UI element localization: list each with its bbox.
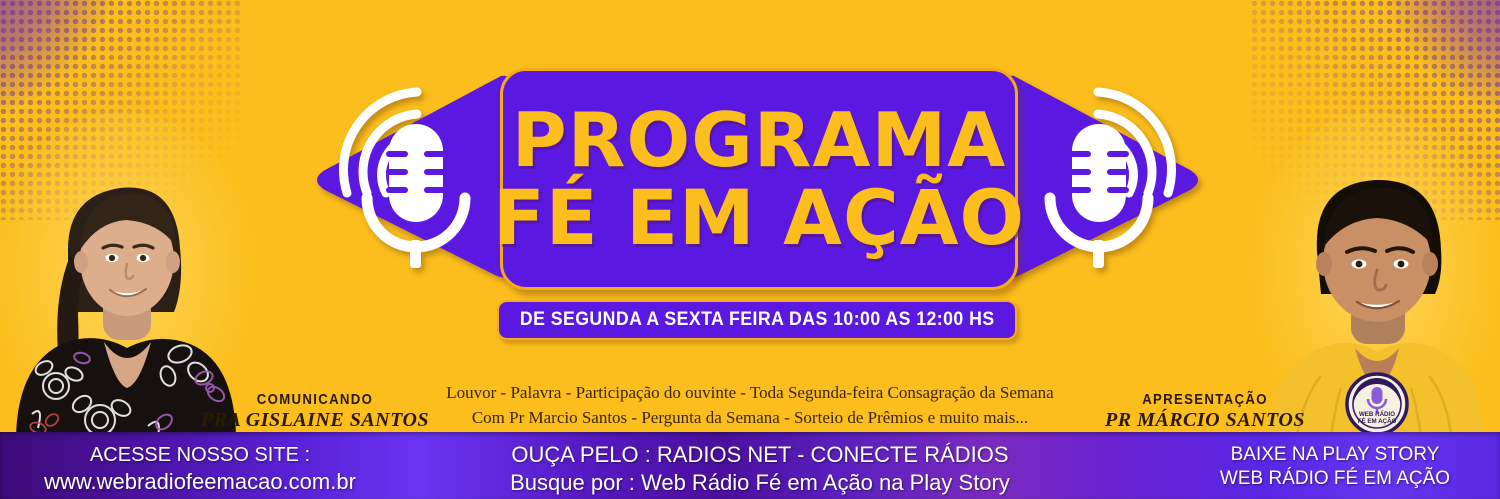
schedule-pill: DE SEGUNDA A SEXTA FEIRA DAS 10:00 AS 12…: [497, 300, 1017, 340]
bottom-right-line2: WEB RÁDIO FÉ EM AÇÃO: [1170, 467, 1500, 491]
corner-glow-left: [0, 0, 110, 110]
credit-left: COMUNICANDO PRA GISLAINE SANTOS: [200, 391, 430, 432]
bottom-right-block: BAIXE NA PLAY STORY WEB RÁDIO FÉ EM AÇÃO: [1170, 443, 1500, 491]
program-title-box: PROGRAMA FÉ EM AÇÃO: [500, 68, 1018, 290]
bottom-center-block: OUÇA PELO : RADIOS NET - CONECTE RÁDIOS …: [470, 441, 1050, 496]
bottom-center-line1: OUÇA PELO : RADIOS NET - CONECTE RÁDIOS: [470, 441, 1050, 469]
bottom-right-line1: BAIXE NA PLAY STORY: [1170, 443, 1500, 467]
credit-left-name: PRA GISLAINE SANTOS: [200, 409, 430, 432]
play-triangle-left-icon: [305, 62, 515, 292]
left-mic-badge: [305, 62, 515, 292]
credit-right: APRESENTAÇÃO PR MÁRCIO SANTOS: [1085, 391, 1325, 432]
bottom-info-bar: ACESSE NOSSO SITE : www.webradiofeemacao…: [0, 432, 1500, 499]
bottom-left-line1: ACESSE NOSSO SITE :: [0, 443, 400, 468]
credit-right-role: APRESENTAÇÃO: [1099, 391, 1310, 408]
play-triangle-right-icon: [1000, 62, 1210, 292]
schedule-text: DE SEGUNDA A SEXTA FEIRA DAS 10:00 AS 12…: [520, 309, 995, 331]
right-mic-badge: [1000, 62, 1210, 292]
website-url[interactable]: www.webradiofeemacao.com.br: [0, 468, 400, 496]
program-title-line2: FÉ EM AÇÃO: [493, 182, 1025, 253]
radio-program-banner: WEB RÁDIO FÉ EM AÇÃO: [0, 0, 1500, 499]
bottom-left-block: ACESSE NOSSO SITE : www.webradiofeemacao…: [0, 443, 400, 496]
program-title-line1: PROGRAMA: [512, 105, 1007, 176]
bottom-center-line2: Busque por : Web Rádio Fé em Ação na Pla…: [470, 469, 1050, 497]
credit-left-role: COMUNICANDO: [214, 391, 416, 408]
corner-glow-right: [1390, 0, 1500, 110]
credit-right-name: PR MÁRCIO SANTOS: [1085, 409, 1325, 432]
